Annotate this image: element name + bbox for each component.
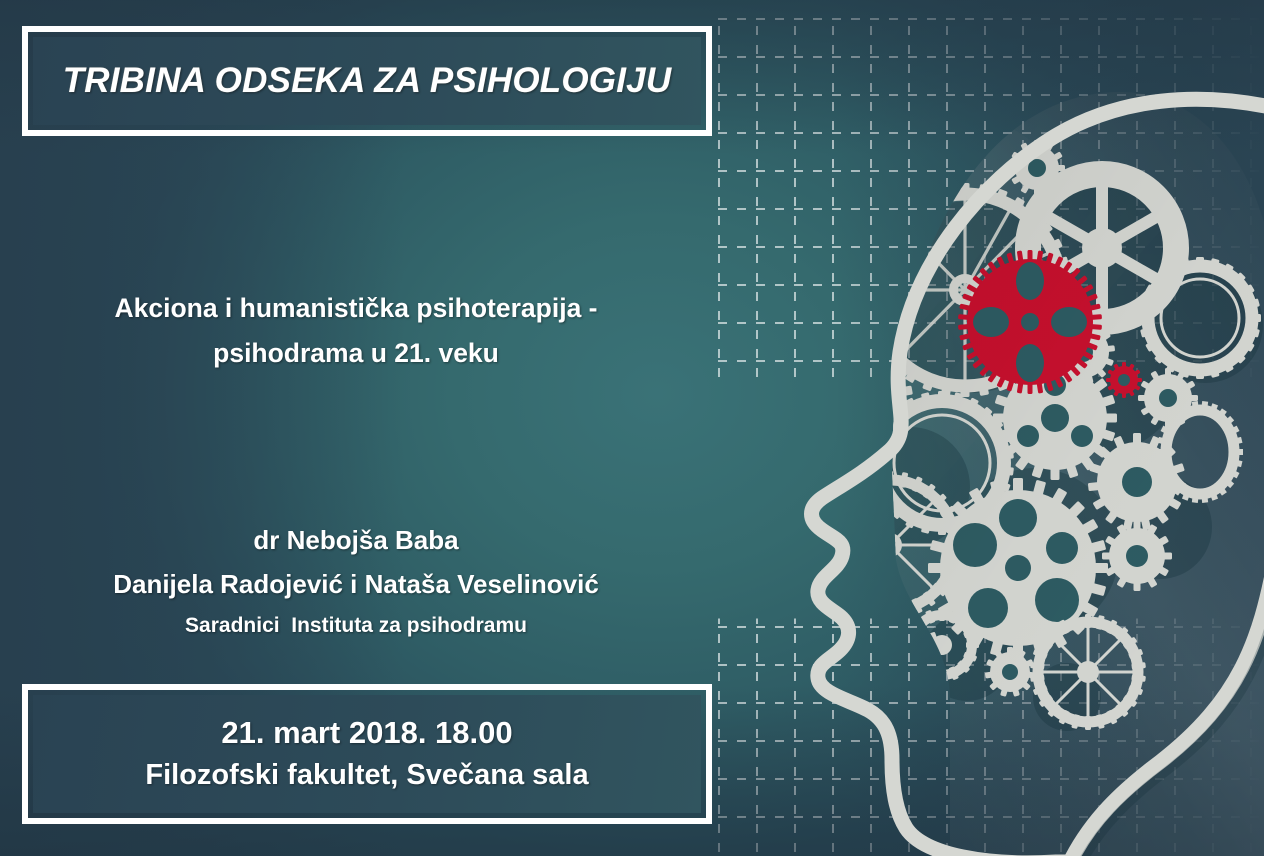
- header-frame: TRIBINA ODSEKA ZA PSIHOLOGIJU: [22, 26, 712, 136]
- talk-title: Akciona i humanistička psihoterapija - p…: [0, 286, 712, 376]
- event-venue: Filozofski fakultet, Svečana sala: [145, 754, 588, 796]
- head-gears-illustration: [700, 0, 1264, 856]
- speaker-main: dr Nebojša Baba: [0, 518, 712, 562]
- gear-tiny-left-b: [814, 290, 870, 346]
- speakers-block: dr Nebojša Baba Danijela Radojević i Nat…: [0, 518, 712, 646]
- poster: TRIBINA ODSEKA ZA PSIHOLOGIJU Akciona i …: [0, 0, 1264, 856]
- talk-title-line-1: Akciona i humanistička psihoterapija -: [0, 286, 712, 331]
- gear-bottom-tiny: [870, 590, 913, 634]
- gear-tiny-left-a: [824, 245, 870, 291]
- page-title: TRIBINA ODSEKA ZA PSIHOLOGIJU: [63, 61, 672, 101]
- speaker-affiliation: Saradnici Instituta za psihodramu: [0, 606, 712, 646]
- header-inner: TRIBINA ODSEKA ZA PSIHOLOGIJU: [33, 37, 701, 125]
- speaker-secondary: Danijela Radojević i Nataša Veselinović: [0, 562, 712, 606]
- talk-title-line-2: psihodrama u 21. veku: [0, 331, 712, 376]
- event-datetime: 21. mart 2018. 18.00: [221, 712, 512, 754]
- footer-frame: 21. mart 2018. 18.00 Filozofski fakultet…: [22, 684, 712, 824]
- footer-inner: 21. mart 2018. 18.00 Filozofski fakultet…: [33, 695, 701, 813]
